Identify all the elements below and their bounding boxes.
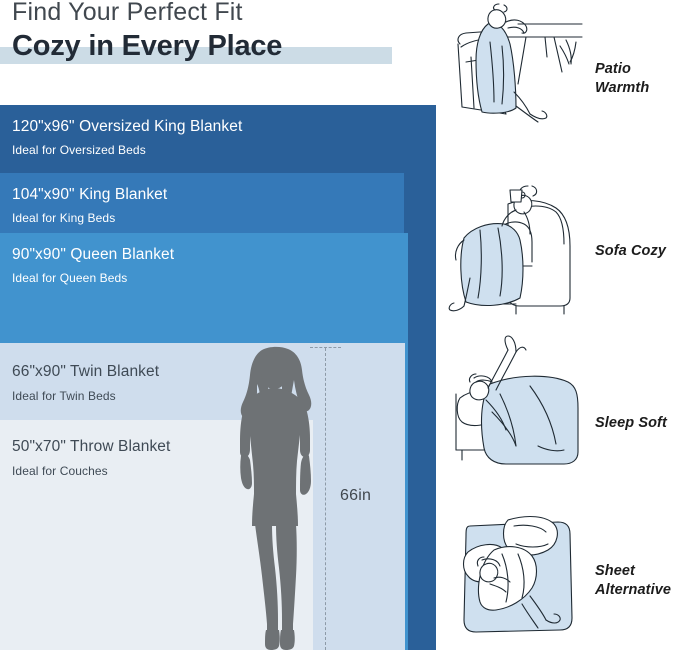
scene-patio-warmth: Patio Warmth: [440, 0, 679, 162]
blanket-size-chart: 120"x96" Oversized King Blanket Ideal fo…: [0, 105, 440, 650]
size-bar-title: 66"x90" Twin Blanket: [12, 363, 159, 381]
eyebrow-text: Find Your Perfect Fit: [12, 0, 243, 27]
height-measure-line: [325, 348, 326, 650]
page-title: Cozy in Every Place: [12, 30, 282, 63]
scene-label: Sheet Alternative: [595, 562, 671, 600]
scene-label-line1: Patio: [595, 60, 649, 79]
height-measure-label: 66in: [340, 487, 371, 505]
size-bar-title: 120"x96" Oversized King Blanket: [12, 118, 242, 136]
scene-sheet-alternative: Sheet Alternative: [440, 492, 679, 650]
header: Find Your Perfect Fit Cozy in Every Plac…: [0, 0, 440, 96]
scene-label: Patio Warmth: [595, 60, 649, 98]
person-in-bed-stretching-icon: [446, 334, 591, 487]
scene-label-line1: Sofa Cozy: [595, 242, 666, 261]
scene-label: Sleep Soft: [595, 414, 667, 433]
size-bar-subtitle: Ideal for King Beds: [12, 211, 115, 225]
scene-label-line2: Warmth: [595, 79, 649, 98]
scene-label: Sofa Cozy: [595, 242, 666, 261]
size-bar-subtitle: Ideal for Queen Beds: [12, 271, 127, 285]
scene-label-line2: Alternative: [595, 581, 671, 600]
woman-armchair-blanket-icon: [446, 166, 591, 323]
size-bar-title: 50"x70" Throw Blanket: [12, 438, 170, 456]
scene-label-line1: Sheet: [595, 562, 671, 581]
human-silhouette: [228, 344, 320, 650]
lifestyle-scenes: Patio Warmth: [440, 0, 679, 650]
scene-sofa-cozy: Sofa Cozy: [440, 162, 679, 330]
scene-label-line1: Sleep Soft: [595, 414, 667, 433]
size-bar-subtitle: Ideal for Oversized Beds: [12, 143, 146, 157]
size-bar-title: 104"x90" King Blanket: [12, 186, 167, 204]
person-on-bed-top-view-icon: [446, 500, 591, 647]
woman-seated-patio-blanket-icon: [446, 2, 586, 152]
scene-sleep-soft: Sleep Soft: [440, 330, 679, 492]
size-bar-subtitle: Ideal for Twin Beds: [12, 389, 116, 403]
size-bar-title: 90"x90" Queen Blanket: [12, 246, 174, 264]
size-bar-subtitle: Ideal for Couches: [12, 464, 108, 478]
